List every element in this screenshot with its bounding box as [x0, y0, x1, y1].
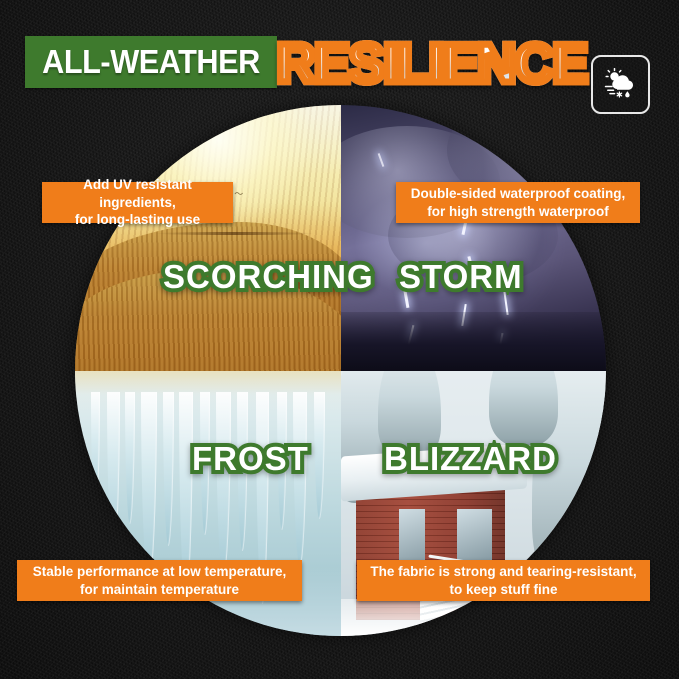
feature-label-waterproof: Double-sided waterproof coating, for hig…	[396, 182, 640, 223]
poster-root: ALL-WEATHER RESILIENCE	[0, 0, 679, 679]
feature-label-tear-resistant-line1: The fabric is strong and tearing-resista…	[370, 563, 636, 581]
category-label-frost: FROST	[192, 440, 309, 478]
icicle	[216, 392, 231, 578]
page-title-primary: ALL-WEATHER	[34, 36, 268, 88]
category-label-storm: STORM	[399, 258, 523, 296]
feature-label-uv-line2: for long-lasting use	[75, 211, 200, 229]
bird-icon: 〜	[234, 187, 243, 200]
page-title-secondary: RESILIENCE	[277, 26, 584, 100]
icicle	[125, 392, 135, 525]
icicle	[163, 392, 174, 546]
category-label-scorching: SCORCHING	[163, 258, 374, 296]
feature-label-uv: Add UV resistant ingredients, for long-l…	[42, 182, 233, 223]
category-label-blizzard: BLIZZARD	[384, 440, 557, 478]
snow-covered-tree	[489, 371, 558, 445]
scene-storm	[341, 105, 607, 371]
header: ALL-WEATHER RESILIENCE	[0, 24, 679, 96]
feature-label-uv-line1: Add UV resistant ingredients,	[49, 176, 226, 211]
scene-scorching: 〜 〜	[75, 105, 341, 371]
icicle	[107, 392, 120, 557]
feature-label-tear-resistant-line2: to keep stuff fine	[449, 581, 557, 599]
icicle	[293, 392, 307, 567]
weather-sun-cloud-rain-snow-icon	[601, 65, 641, 105]
icicle	[314, 392, 325, 519]
icicle	[141, 392, 157, 583]
feature-label-low-temperature-line2: for maintain temperature	[80, 581, 239, 599]
feature-label-low-temperature: Stable performance at low temperature, f…	[17, 560, 302, 601]
storm-horizon	[341, 312, 607, 370]
cabin-window	[457, 509, 492, 567]
icicle	[91, 392, 100, 514]
feature-label-waterproof-line1: Double-sided waterproof coating,	[411, 185, 626, 203]
snow-ground	[341, 599, 607, 636]
feature-label-waterproof-line2: for high strength waterproof	[427, 203, 609, 221]
feature-label-low-temperature-line1: Stable performance at low temperature,	[33, 563, 287, 581]
feature-label-tear-resistant: The fabric is strong and tearing-resista…	[357, 560, 650, 601]
